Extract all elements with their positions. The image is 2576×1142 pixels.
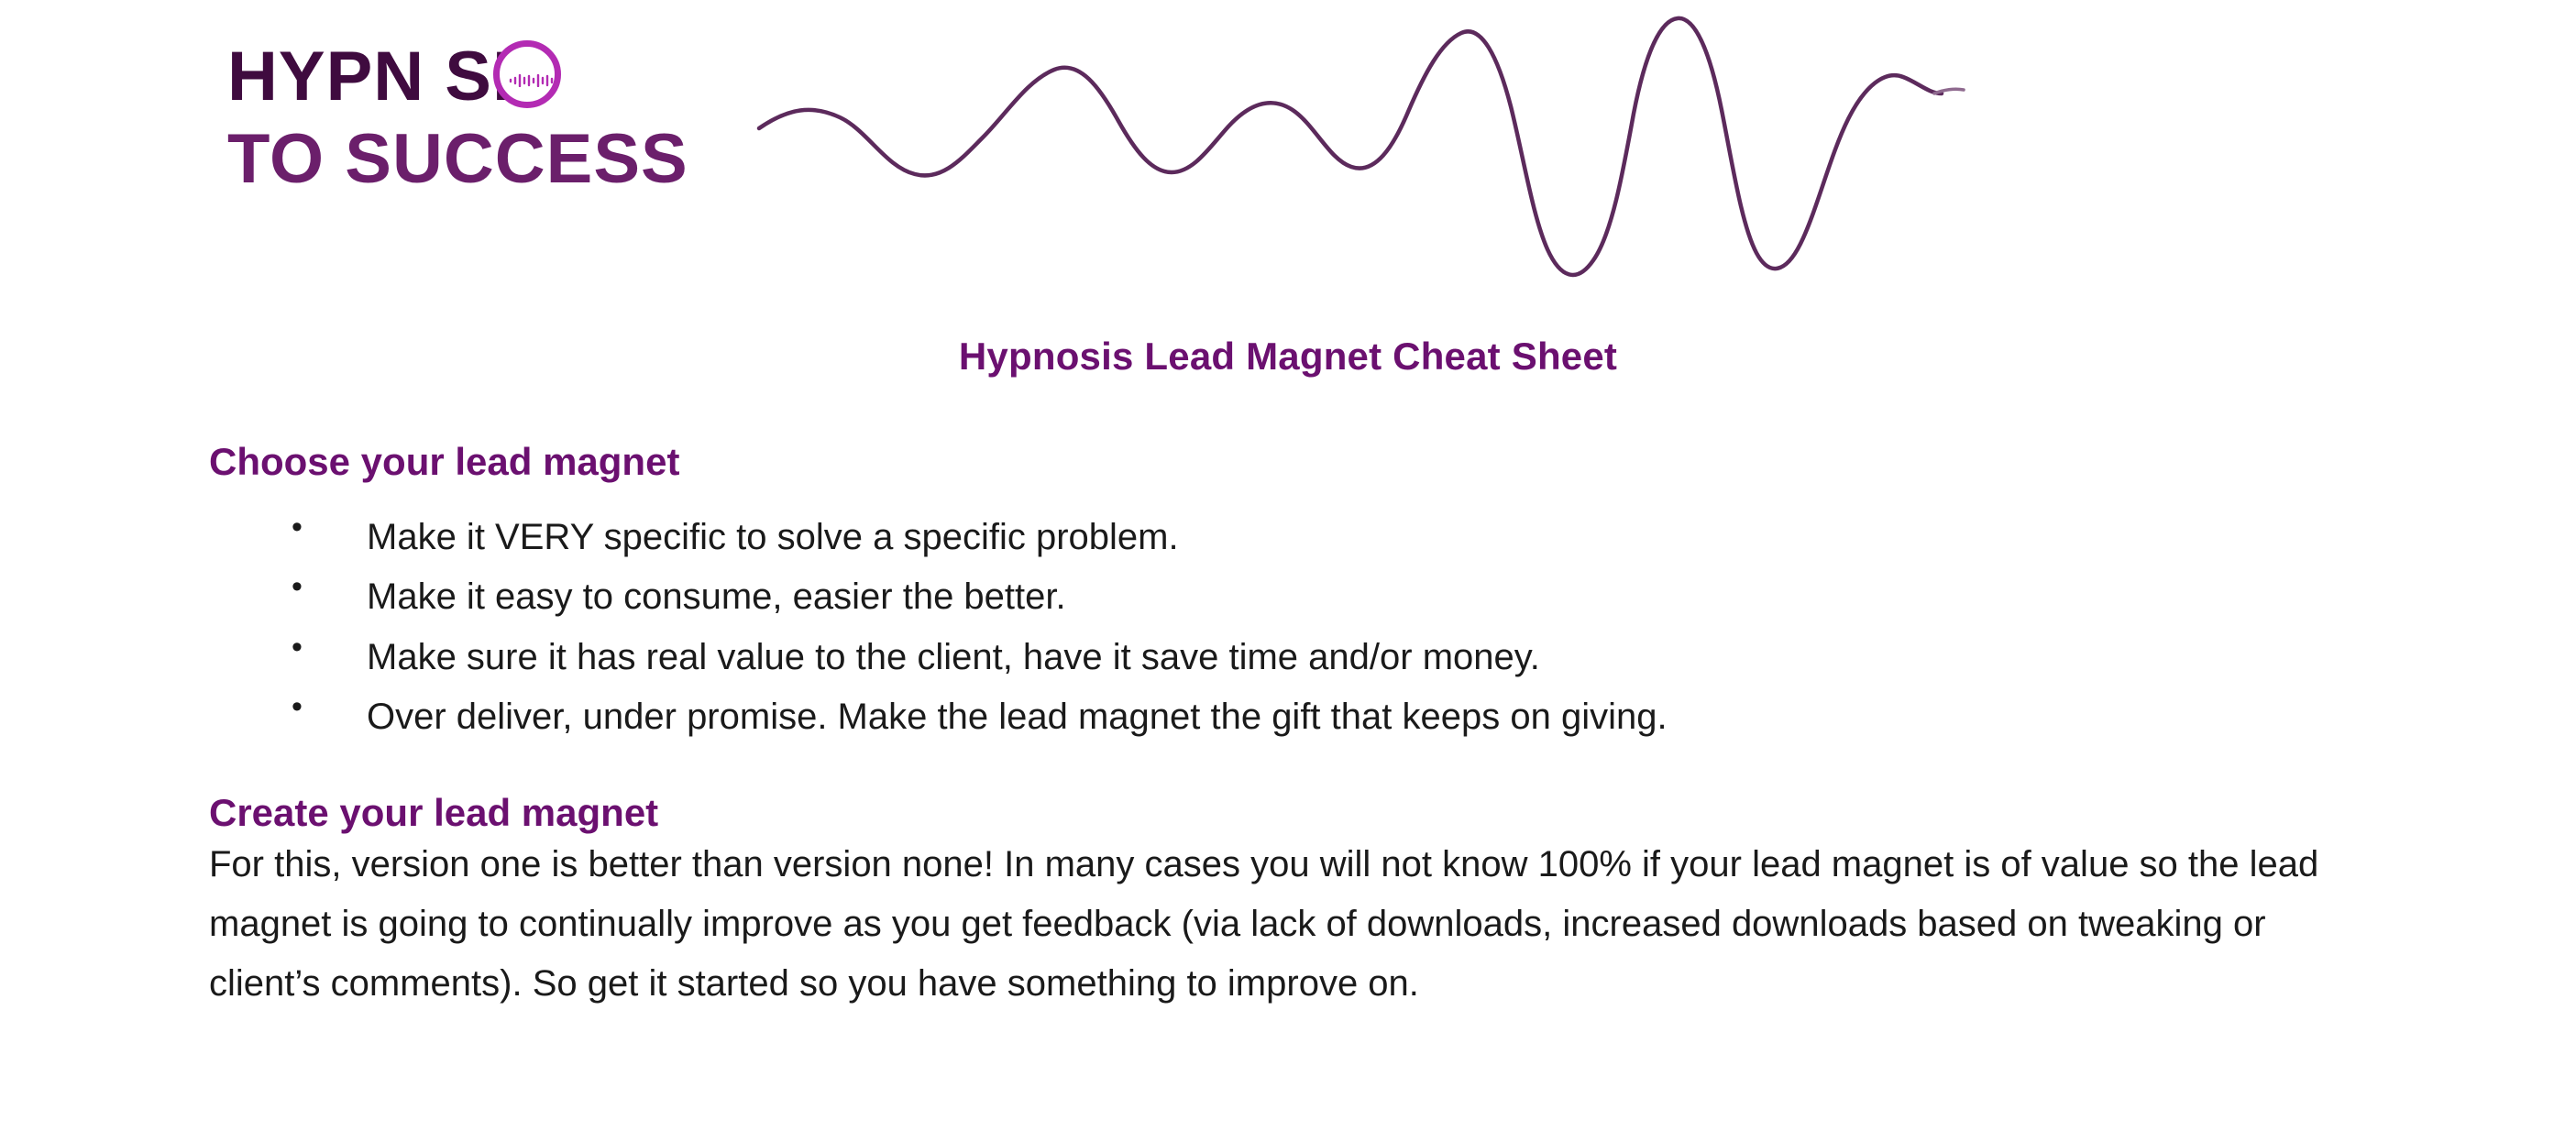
- page-title: Hypnosis Lead Magnet Cheat Sheet: [0, 335, 2576, 379]
- document-body: Choose your lead magnet Make it VERY spe…: [209, 440, 2409, 1014]
- circle-target-icon: [493, 40, 561, 108]
- document-page: HYPN SIS TO SUCCESS: [0, 0, 2576, 1142]
- paragraph-create: For this, version one is better than ver…: [209, 835, 2345, 1013]
- section-spacer: [209, 747, 2409, 791]
- list-item: Make it easy to consume, easier the bett…: [209, 567, 2409, 627]
- section-heading-choose: Choose your lead magnet: [209, 440, 2409, 484]
- list-item: Make it VERY specific to solve a specifi…: [209, 508, 2409, 567]
- list-item: Make sure it has real value to the clien…: [209, 628, 2409, 687]
- logo-text-line2: TO SUCCESS: [227, 119, 688, 199]
- audio-waveform-icon: [509, 74, 558, 87]
- document-header: HYPN SIS TO SUCCESS: [0, 0, 2576, 312]
- section-heading-create: Create your lead magnet: [209, 791, 2409, 835]
- brand-logo: HYPN SIS TO SUCCESS: [220, 27, 733, 247]
- bullet-list-choose: Make it VERY specific to solve a specifi…: [209, 508, 2409, 747]
- list-item: Over deliver, under promise. Make the le…: [209, 687, 2409, 747]
- header-waveform-graphic: [752, 9, 1998, 312]
